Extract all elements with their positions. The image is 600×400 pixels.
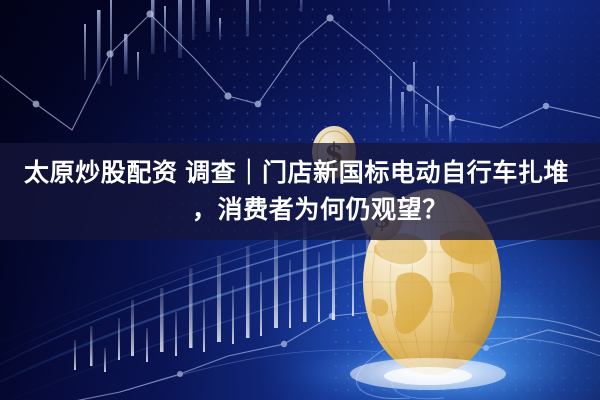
title-line-1: 太原炒股配资 调查｜门店新国标电动自行车扎堆 [0, 155, 600, 192]
title-band: 太原炒股配资 调查｜门店新国标电动自行车扎堆 ，消费者为何仍观望？ [0, 143, 600, 240]
banner-image: $ [0, 0, 600, 400]
title-line-2: ，消费者为何仍观望？ [0, 192, 600, 229]
